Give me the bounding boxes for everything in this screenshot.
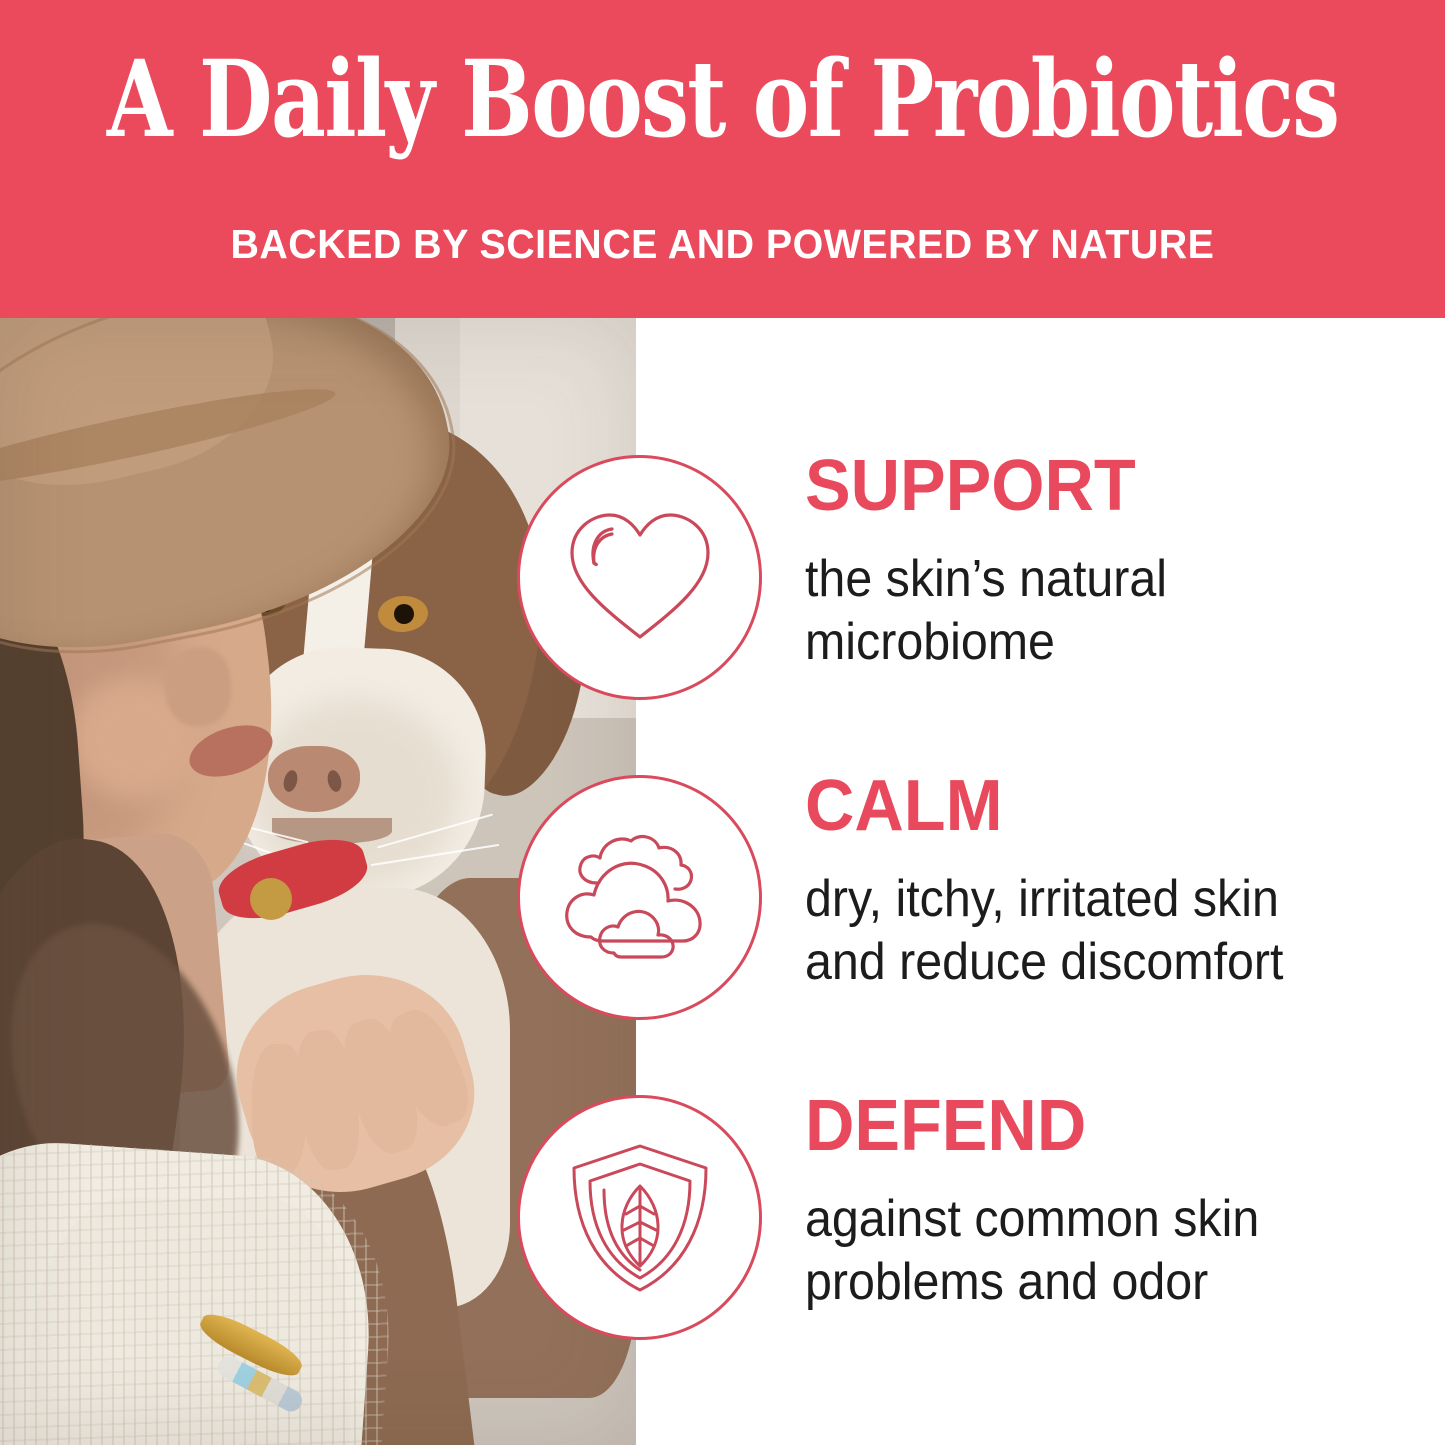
clouds-icon: [517, 775, 762, 1020]
feature-heading: CALM: [805, 770, 1394, 842]
feature-calm: CALM dry, itchy, irritated skin and redu…: [0, 740, 1445, 1040]
feature-body: the skin’s natural microbiome: [805, 548, 1382, 675]
feature-heading: SUPPORT: [805, 450, 1394, 522]
heart-icon: [517, 455, 762, 700]
feature-support: SUPPORT the skin’s natural microbiome: [0, 420, 1445, 720]
feature-text-defend: DEFEND against common skin problems and …: [805, 1090, 1425, 1315]
infographic-canvas: A Daily Boost of Probiotics BACKED BY SC…: [0, 0, 1445, 1445]
feature-body: dry, itchy, irritated skin and reduce di…: [805, 868, 1382, 995]
feature-text-calm: CALM dry, itchy, irritated skin and redu…: [805, 770, 1425, 995]
header-banner: A Daily Boost of Probiotics BACKED BY SC…: [0, 0, 1445, 318]
page-title: A Daily Boost of Probiotics: [107, 46, 1338, 152]
feature-text-support: SUPPORT the skin’s natural microbiome: [805, 450, 1425, 675]
feature-defend: DEFEND against common skin problems and …: [0, 1060, 1445, 1360]
feature-body: against common skin problems and odor: [805, 1188, 1382, 1315]
feature-heading: DEFEND: [805, 1090, 1394, 1162]
page-subtitle: BACKED BY SCIENCE AND POWERED BY NATURE: [231, 224, 1215, 265]
shield-leaf-icon: [517, 1095, 762, 1340]
